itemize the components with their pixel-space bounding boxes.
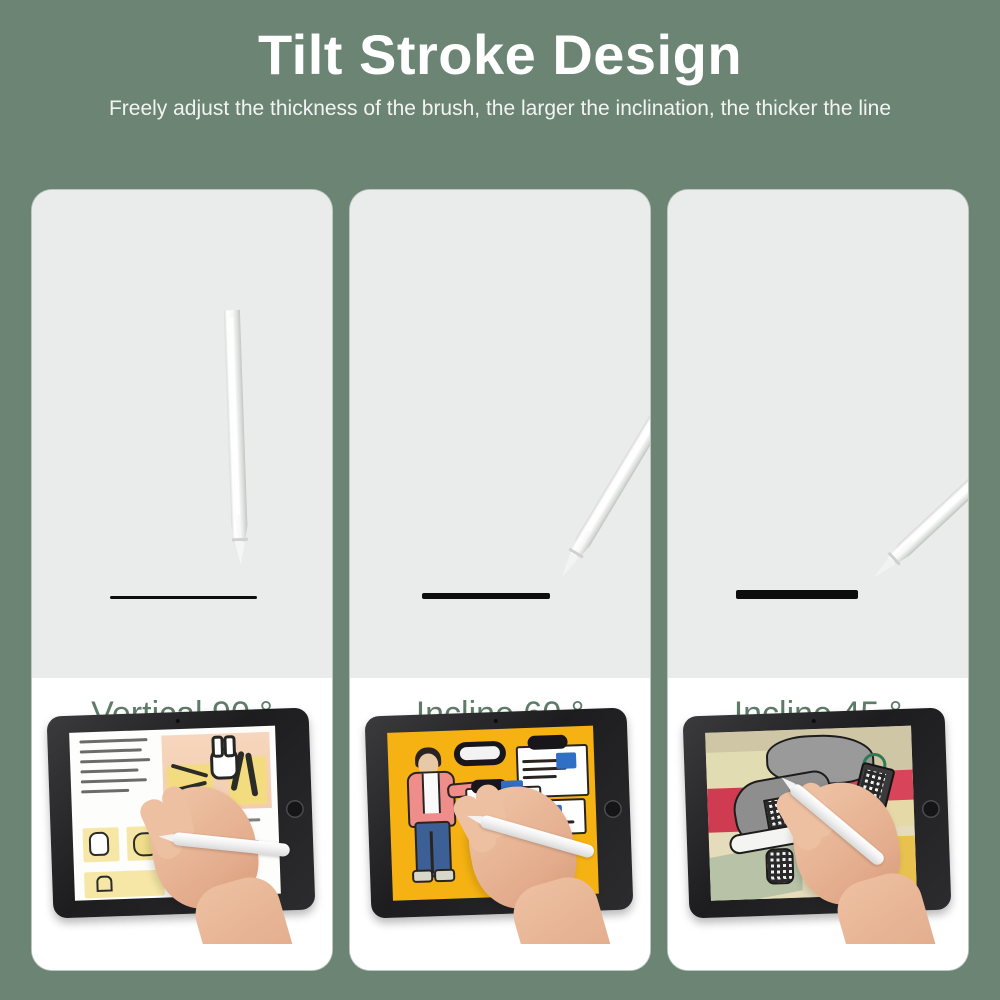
card-top-panel xyxy=(32,190,332,678)
photo-tablet-handwritten-notes xyxy=(32,690,332,970)
tablet-camera-icon xyxy=(494,719,498,723)
tablet-camera-icon xyxy=(812,719,816,723)
photo-tablet-sneaker-artwork xyxy=(668,690,968,970)
card-top-panel xyxy=(668,190,968,678)
card-incline-60[interactable]: Incline 60 ° xyxy=(350,190,650,970)
tilt-stroke-poster: Tilt Stroke Design Freely adjust the thi… xyxy=(0,0,1000,1000)
card-vertical-90[interactable]: Vertical 90 ° xyxy=(32,190,332,970)
tablet-home-button-icon[interactable] xyxy=(286,800,305,819)
card-top-panel xyxy=(350,190,650,678)
photo-tablet-yellow-illustration xyxy=(350,690,650,970)
figure-shoe xyxy=(434,869,455,883)
speech-bubble-text xyxy=(460,746,500,760)
tablet-home-button-icon[interactable] xyxy=(604,800,623,819)
tablet-camera-icon xyxy=(176,719,180,723)
figure-shoe xyxy=(412,869,433,883)
page-title: Tilt Stroke Design xyxy=(0,0,1000,87)
lace-check-pattern xyxy=(765,848,794,885)
figure-shirt xyxy=(422,773,441,814)
note-card-header xyxy=(527,735,567,750)
stroke-line-45 xyxy=(736,590,858,599)
photo-bottom-mask xyxy=(32,944,332,970)
poster-header: Tilt Stroke Design Freely adjust the thi… xyxy=(0,0,1000,180)
handwriting-column xyxy=(79,738,153,800)
photo-bottom-mask xyxy=(350,944,650,970)
tablet-home-button-icon[interactable] xyxy=(922,800,941,819)
card-row: Vertical 90 ° xyxy=(32,190,968,970)
card-incline-45[interactable]: Incline 45 ° xyxy=(668,190,968,970)
page-subtitle: Freely adjust the thickness of the brush… xyxy=(0,87,1000,121)
photo-bottom-mask xyxy=(668,944,968,970)
